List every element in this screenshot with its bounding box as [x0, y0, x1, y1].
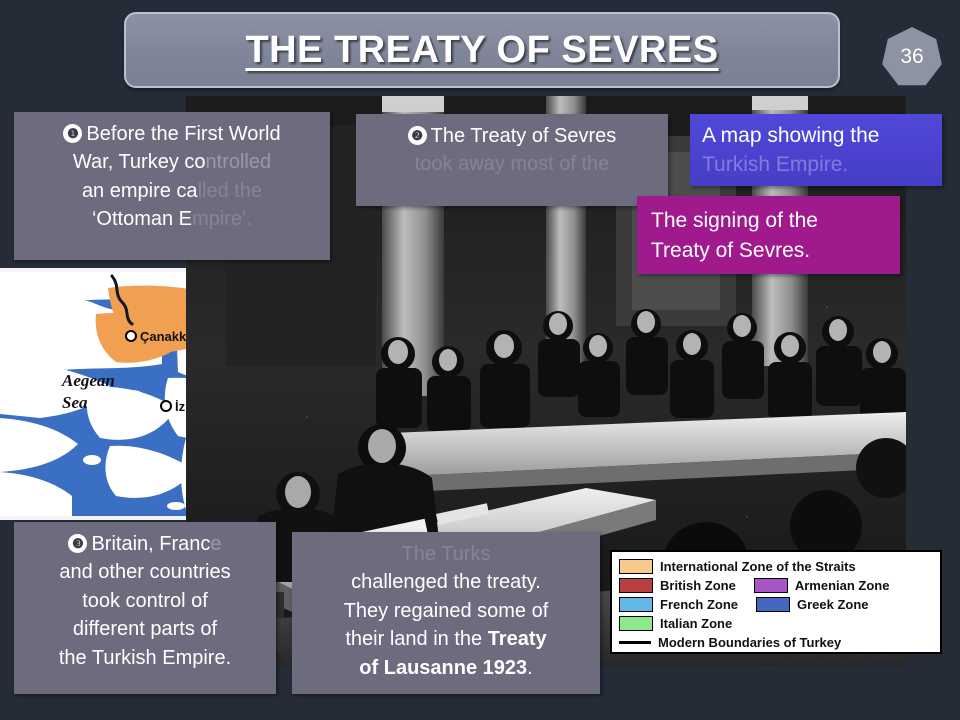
legend-row: Italian Zone [619, 614, 933, 633]
slide-number-badge: 36 [881, 27, 943, 87]
legend-row: British Zone Armenian Zone [619, 576, 933, 595]
textbox-3-line-2: and other countries [24, 558, 266, 586]
textbox-point-4: The Turks challenged the treaty. They re… [292, 532, 600, 694]
legend-entry: Italian Zone [619, 616, 732, 631]
legend-label: Armenian Zone [795, 578, 890, 593]
map-sea-label-line1: Aegean [61, 371, 115, 390]
bullet-number-3: ❸ [68, 534, 87, 553]
map-legend: International Zone of the Straits Britis… [610, 550, 942, 654]
textbox-photo-caption: The signing of the Treaty of Sevres. [637, 196, 900, 274]
textbox-point-1: ❶Before the First World War, Turkey cont… [14, 112, 330, 260]
legend-swatch-british-zone [619, 578, 653, 593]
textbox-4-line-2: They regained some of [302, 597, 590, 625]
textbox-1-line-2: War, Turkey controlled [24, 148, 320, 176]
legend-entry: Armenian Zone [754, 578, 890, 593]
map-sea-label-line2: Sea [62, 393, 88, 412]
legend-label: International Zone of the Straits [660, 559, 856, 574]
textbox-4-line-0: The Turks [302, 540, 590, 568]
legend-swatch-international-zone [619, 559, 653, 574]
slide-title-bar: THE TREATY OF SEVRES [124, 12, 840, 88]
legend-label: French Zone [660, 597, 738, 612]
legend-swatch-greek-zone [756, 597, 790, 612]
legend-label: British Zone [660, 578, 736, 593]
legend-row: Modern Boundaries of Turkey [619, 633, 933, 652]
legend-entry: Greek Zone [756, 597, 869, 612]
textbox-4-line-3: their land in the Treaty [302, 625, 590, 653]
textbox-1-line-4: ‘Ottoman Empire’. [24, 205, 320, 233]
caption-line-2: Treaty of Sevres. [651, 236, 886, 266]
bullet-number-2: ❷ [408, 126, 427, 145]
textbox-3-line-5: the Turkish Empire. [24, 644, 266, 672]
textbox-point-2: ❷The Treaty of Sevres took away most of … [356, 114, 668, 206]
legend-row: French Zone Greek Zone [619, 595, 933, 614]
textbox-2-line-1: ❷The Treaty of Sevres [366, 122, 658, 150]
caption-line-1: The signing of the [651, 206, 886, 236]
legend-entry: British Zone [619, 578, 736, 593]
textbox-4-line-4: of Lausanne 1923. [302, 654, 590, 682]
map-label-line-1: A map showing the [702, 122, 930, 151]
bullet-number-1: ❶ [63, 124, 82, 143]
slide-number: 36 [900, 45, 923, 69]
textbox-2-line-2: took away most of the [366, 150, 658, 178]
textbox-3-line-4: different parts of [24, 615, 266, 643]
textbox-3-line-3: took control of [24, 587, 266, 615]
legend-row: International Zone of the Straits [619, 557, 933, 576]
legend-line-modern-boundaries [619, 641, 651, 644]
legend-swatch-italian-zone [619, 616, 653, 631]
textbox-1-line-1: ❶Before the First World [24, 120, 320, 148]
legend-label: Greek Zone [797, 597, 869, 612]
legend-label: Italian Zone [660, 616, 732, 631]
textbox-1-line-3: an empire called the [24, 177, 320, 205]
textbox-point-3: ❸Britain, France and other countries too… [14, 522, 276, 694]
legend-swatch-french-zone [619, 597, 653, 612]
textbox-map-label: A map showing the Turkish Empire. [690, 114, 942, 186]
legend-label: Modern Boundaries of Turkey [658, 635, 841, 650]
legend-entry: Modern Boundaries of Turkey [619, 635, 841, 650]
legend-entry: International Zone of the Straits [619, 559, 856, 574]
legend-swatch-armenian-zone [754, 578, 788, 593]
textbox-3-line-1: ❸Britain, France [24, 530, 266, 558]
legend-entry: French Zone [619, 597, 738, 612]
textbox-4-line-1: challenged the treaty. [302, 568, 590, 596]
page-title: THE TREATY OF SEVRES [245, 29, 718, 72]
map-label-line-2: Turkish Empire. [702, 151, 930, 180]
presentation-slide: Aegean Sea Çanakkale İzmir [0, 0, 960, 720]
